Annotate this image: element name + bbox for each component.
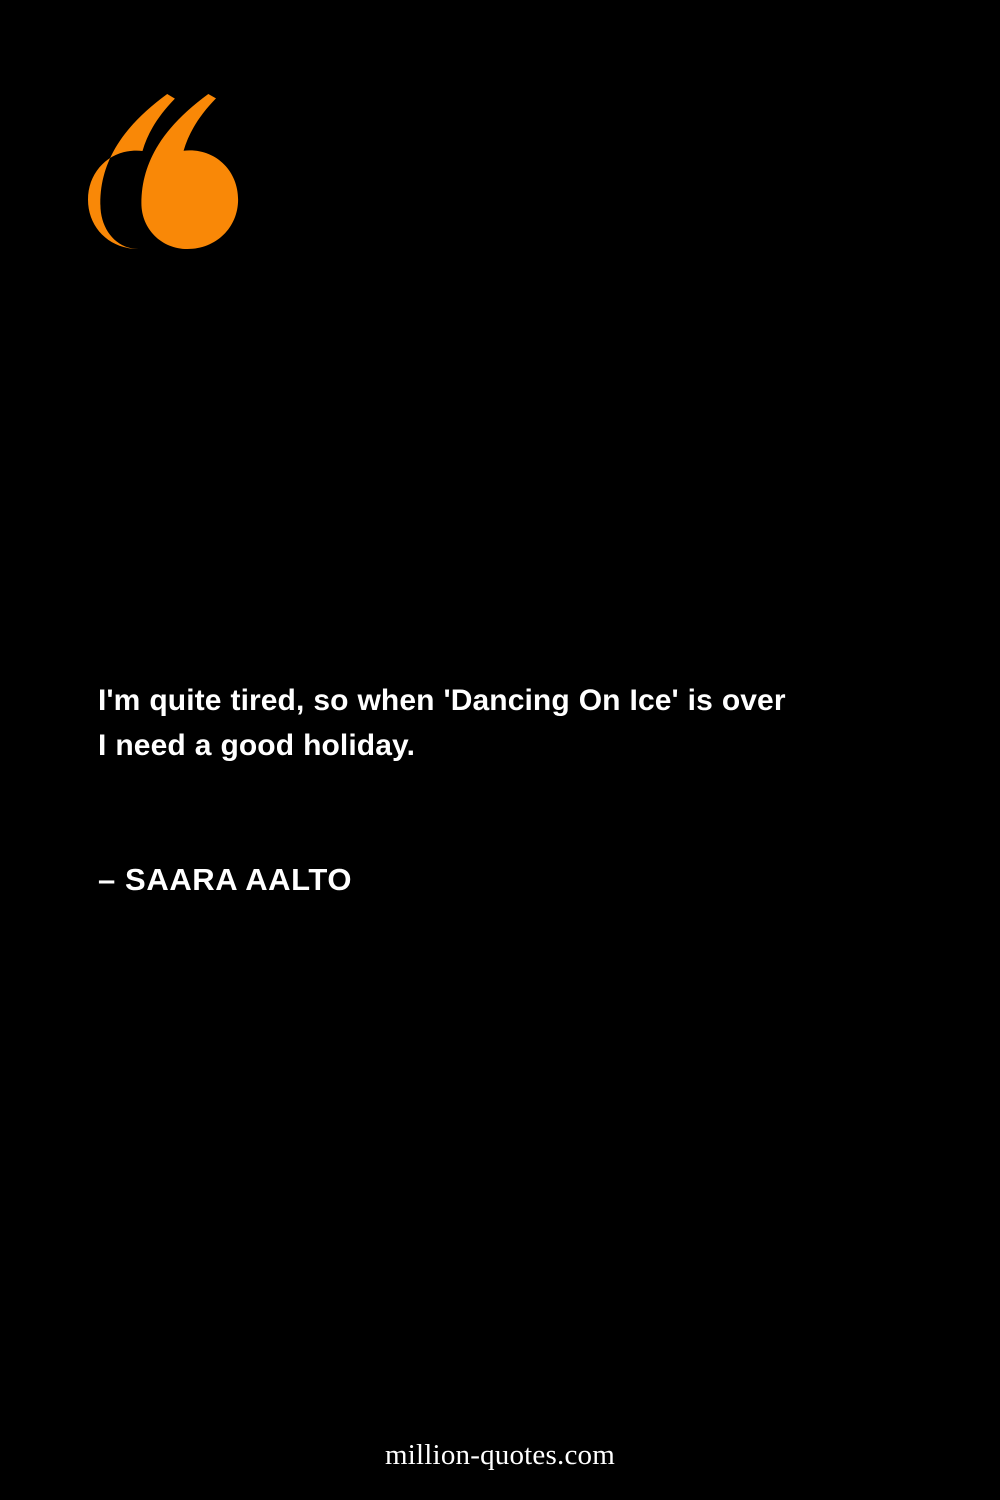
quote-text: I'm quite tired, so when 'Dancing On Ice… bbox=[98, 678, 798, 768]
site-watermark: million-quotes.com bbox=[0, 1437, 1000, 1473]
open-double-quote-glyph bbox=[82, 94, 250, 249]
quote-card: I'm quite tired, so when 'Dancing On Ice… bbox=[0, 0, 1000, 1500]
open-double-quote-icon bbox=[82, 94, 262, 294]
quote-author: – SAARA AALTO bbox=[98, 861, 352, 899]
